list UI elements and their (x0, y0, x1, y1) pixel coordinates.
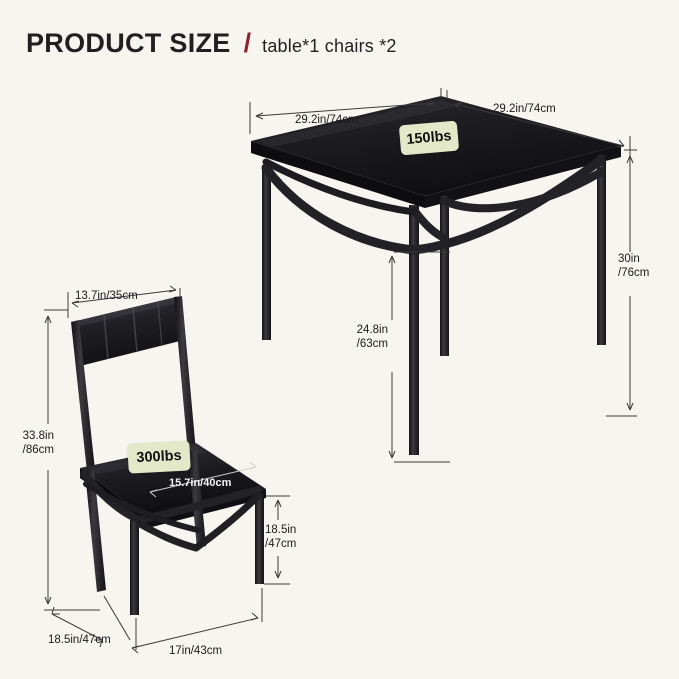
product-size-infographic: PRODUCT SIZE / table*1 chairs *2 (0, 0, 679, 679)
chair-weight-tag: 300lbs (127, 440, 190, 473)
chair-seat-width-label: 15.7in/40cm (169, 477, 231, 490)
chair-weight-label: 300lbs (136, 448, 182, 466)
table-height-label: 30in /76cm (618, 253, 649, 280)
chair-total-height-label: 33.8in /86cm (0, 430, 54, 457)
chair-back-width-label: 13.7in/35cm (75, 290, 138, 304)
chair-base-width-label: 17in/43cm (169, 645, 222, 659)
chair-seat-height-label: 18.5in /47cm (265, 524, 296, 551)
table-weight-tag: 150lbs (399, 121, 459, 156)
table-width-right-label: 29.2in/74cm (493, 103, 556, 117)
chair-seat-depth-label: 18.5in/47cm (48, 634, 111, 648)
table-leg-clearance-label: 24.8in /63cm (308, 324, 388, 351)
table-depth-left-label: 29.2in/74cm (295, 114, 358, 128)
table-weight-label: 150lbs (406, 128, 452, 148)
